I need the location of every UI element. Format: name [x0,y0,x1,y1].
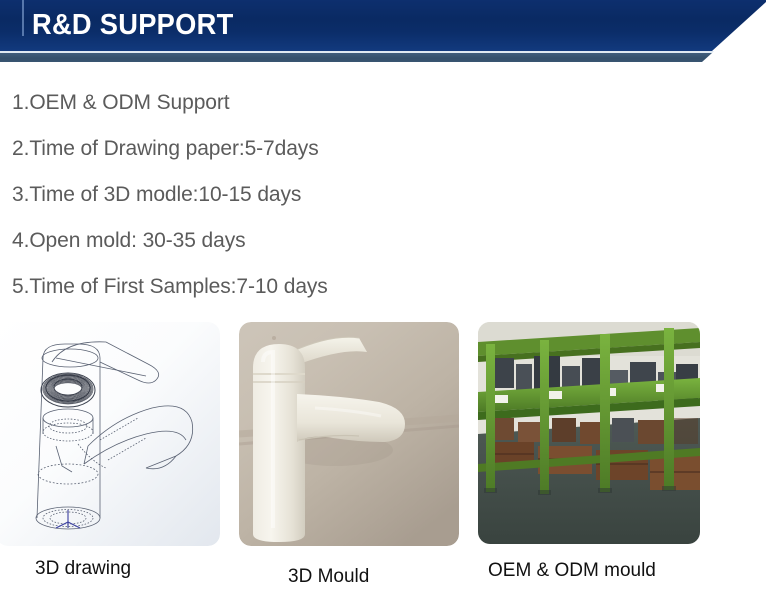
list-item: 1.OEM & ODM Support [12,80,632,126]
gallery-card [478,322,700,544]
gallery-caption: 3D drawing [35,558,131,580]
list-item: 3.Time of 3D modle:10-15 days [12,172,632,218]
page-title: R&D SUPPORT [32,7,234,43]
warehouse-mould-rack-icon [478,322,700,544]
gallery-card [0,322,220,546]
list-item: 5.Time of First Samples:7-10 days [12,264,632,310]
header-hairline [0,51,766,53]
header-underbar [0,53,766,62]
white-prototype-faucet-icon [239,322,459,546]
page-header: R&D SUPPORT [0,0,766,62]
gallery-caption: 3D Mould [288,566,369,588]
list-item: 4.Open mold: 30-35 days [12,218,632,264]
cad-wireframe-faucet-icon [0,322,220,546]
header-accent-line [22,0,24,36]
rd-support-list: 1.OEM & ODM Support 2.Time of Drawing pa… [12,80,632,310]
gallery-card [239,322,459,546]
gallery-caption: OEM & ODM mould [488,560,656,582]
list-item: 2.Time of Drawing paper:5-7days [12,126,632,172]
gallery-row [0,322,766,548]
